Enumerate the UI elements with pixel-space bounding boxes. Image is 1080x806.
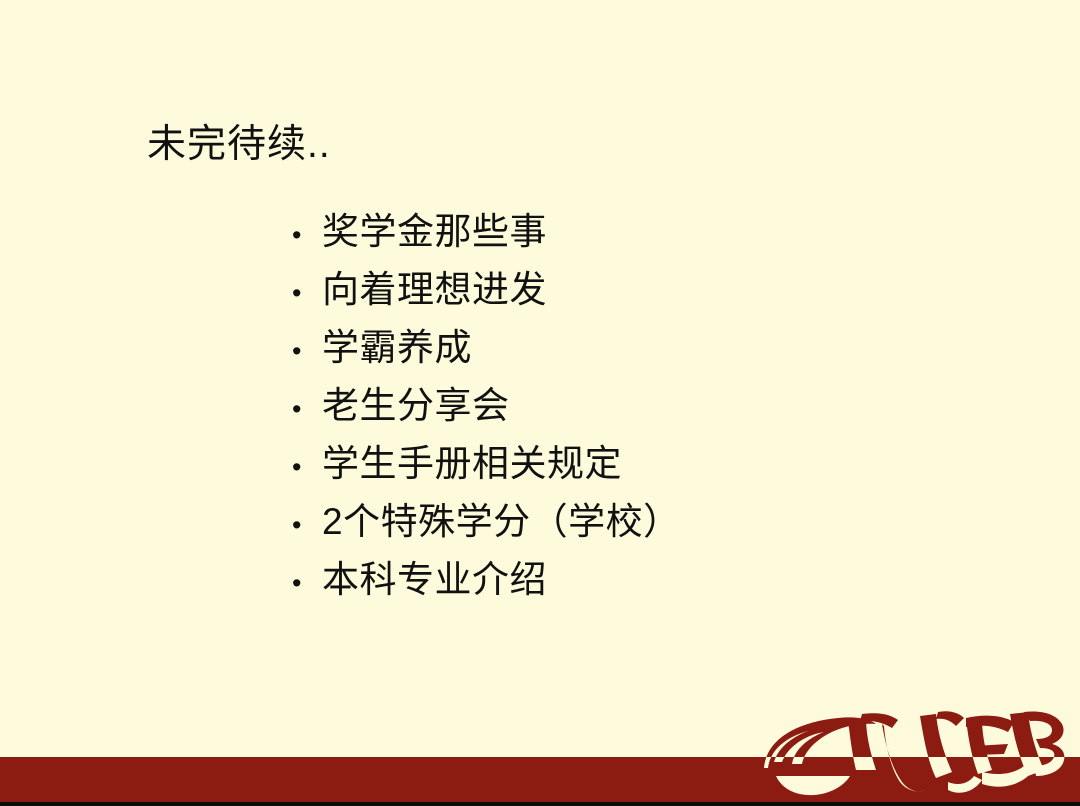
bottom-edge-strip [0, 802, 1080, 806]
list-item: • 奖学金那些事 [292, 203, 681, 261]
presentation-slide: 未完待续.. • 奖学金那些事 • 向着理想进发 • 学霸养成 • 老生分享会 … [0, 0, 1080, 806]
list-item: • 本科专业介绍 [292, 551, 681, 609]
list-item: • 向着理想进发 [292, 261, 681, 319]
list-item: • 老生分享会 [292, 377, 681, 435]
bullet-point-icon: • [292, 264, 322, 322]
list-item-label: 学生手册相关规定 [322, 435, 622, 493]
bullet-point-icon: • [292, 380, 322, 438]
list-item-label: 学霸养成 [322, 319, 472, 377]
list-item: • 学生手册相关规定 [292, 435, 681, 493]
list-item: • 学霸养成 [292, 319, 681, 377]
list-item-label: 向着理想进发 [322, 261, 547, 319]
bullet-point-icon: • [292, 438, 322, 496]
list-item: • 2个特殊学分（学校） [292, 493, 681, 551]
list-item-label: 老生分享会 [322, 377, 510, 435]
bullet-point-icon: • [292, 206, 322, 264]
list-item-label: 本科专业介绍 [322, 551, 547, 609]
bullet-list: • 奖学金那些事 • 向着理想进发 • 学霸养成 • 老生分享会 • 学生手册相… [292, 203, 681, 609]
bullet-point-icon: • [292, 322, 322, 380]
bullet-point-icon: • [292, 496, 322, 554]
list-item-label: 奖学金那些事 [322, 203, 547, 261]
list-item-label: 2个特殊学分（学校） [322, 493, 681, 551]
slide-title: 未完待续.. [147, 122, 331, 168]
footer-bar [0, 757, 1080, 802]
bullet-point-icon: • [292, 554, 322, 612]
